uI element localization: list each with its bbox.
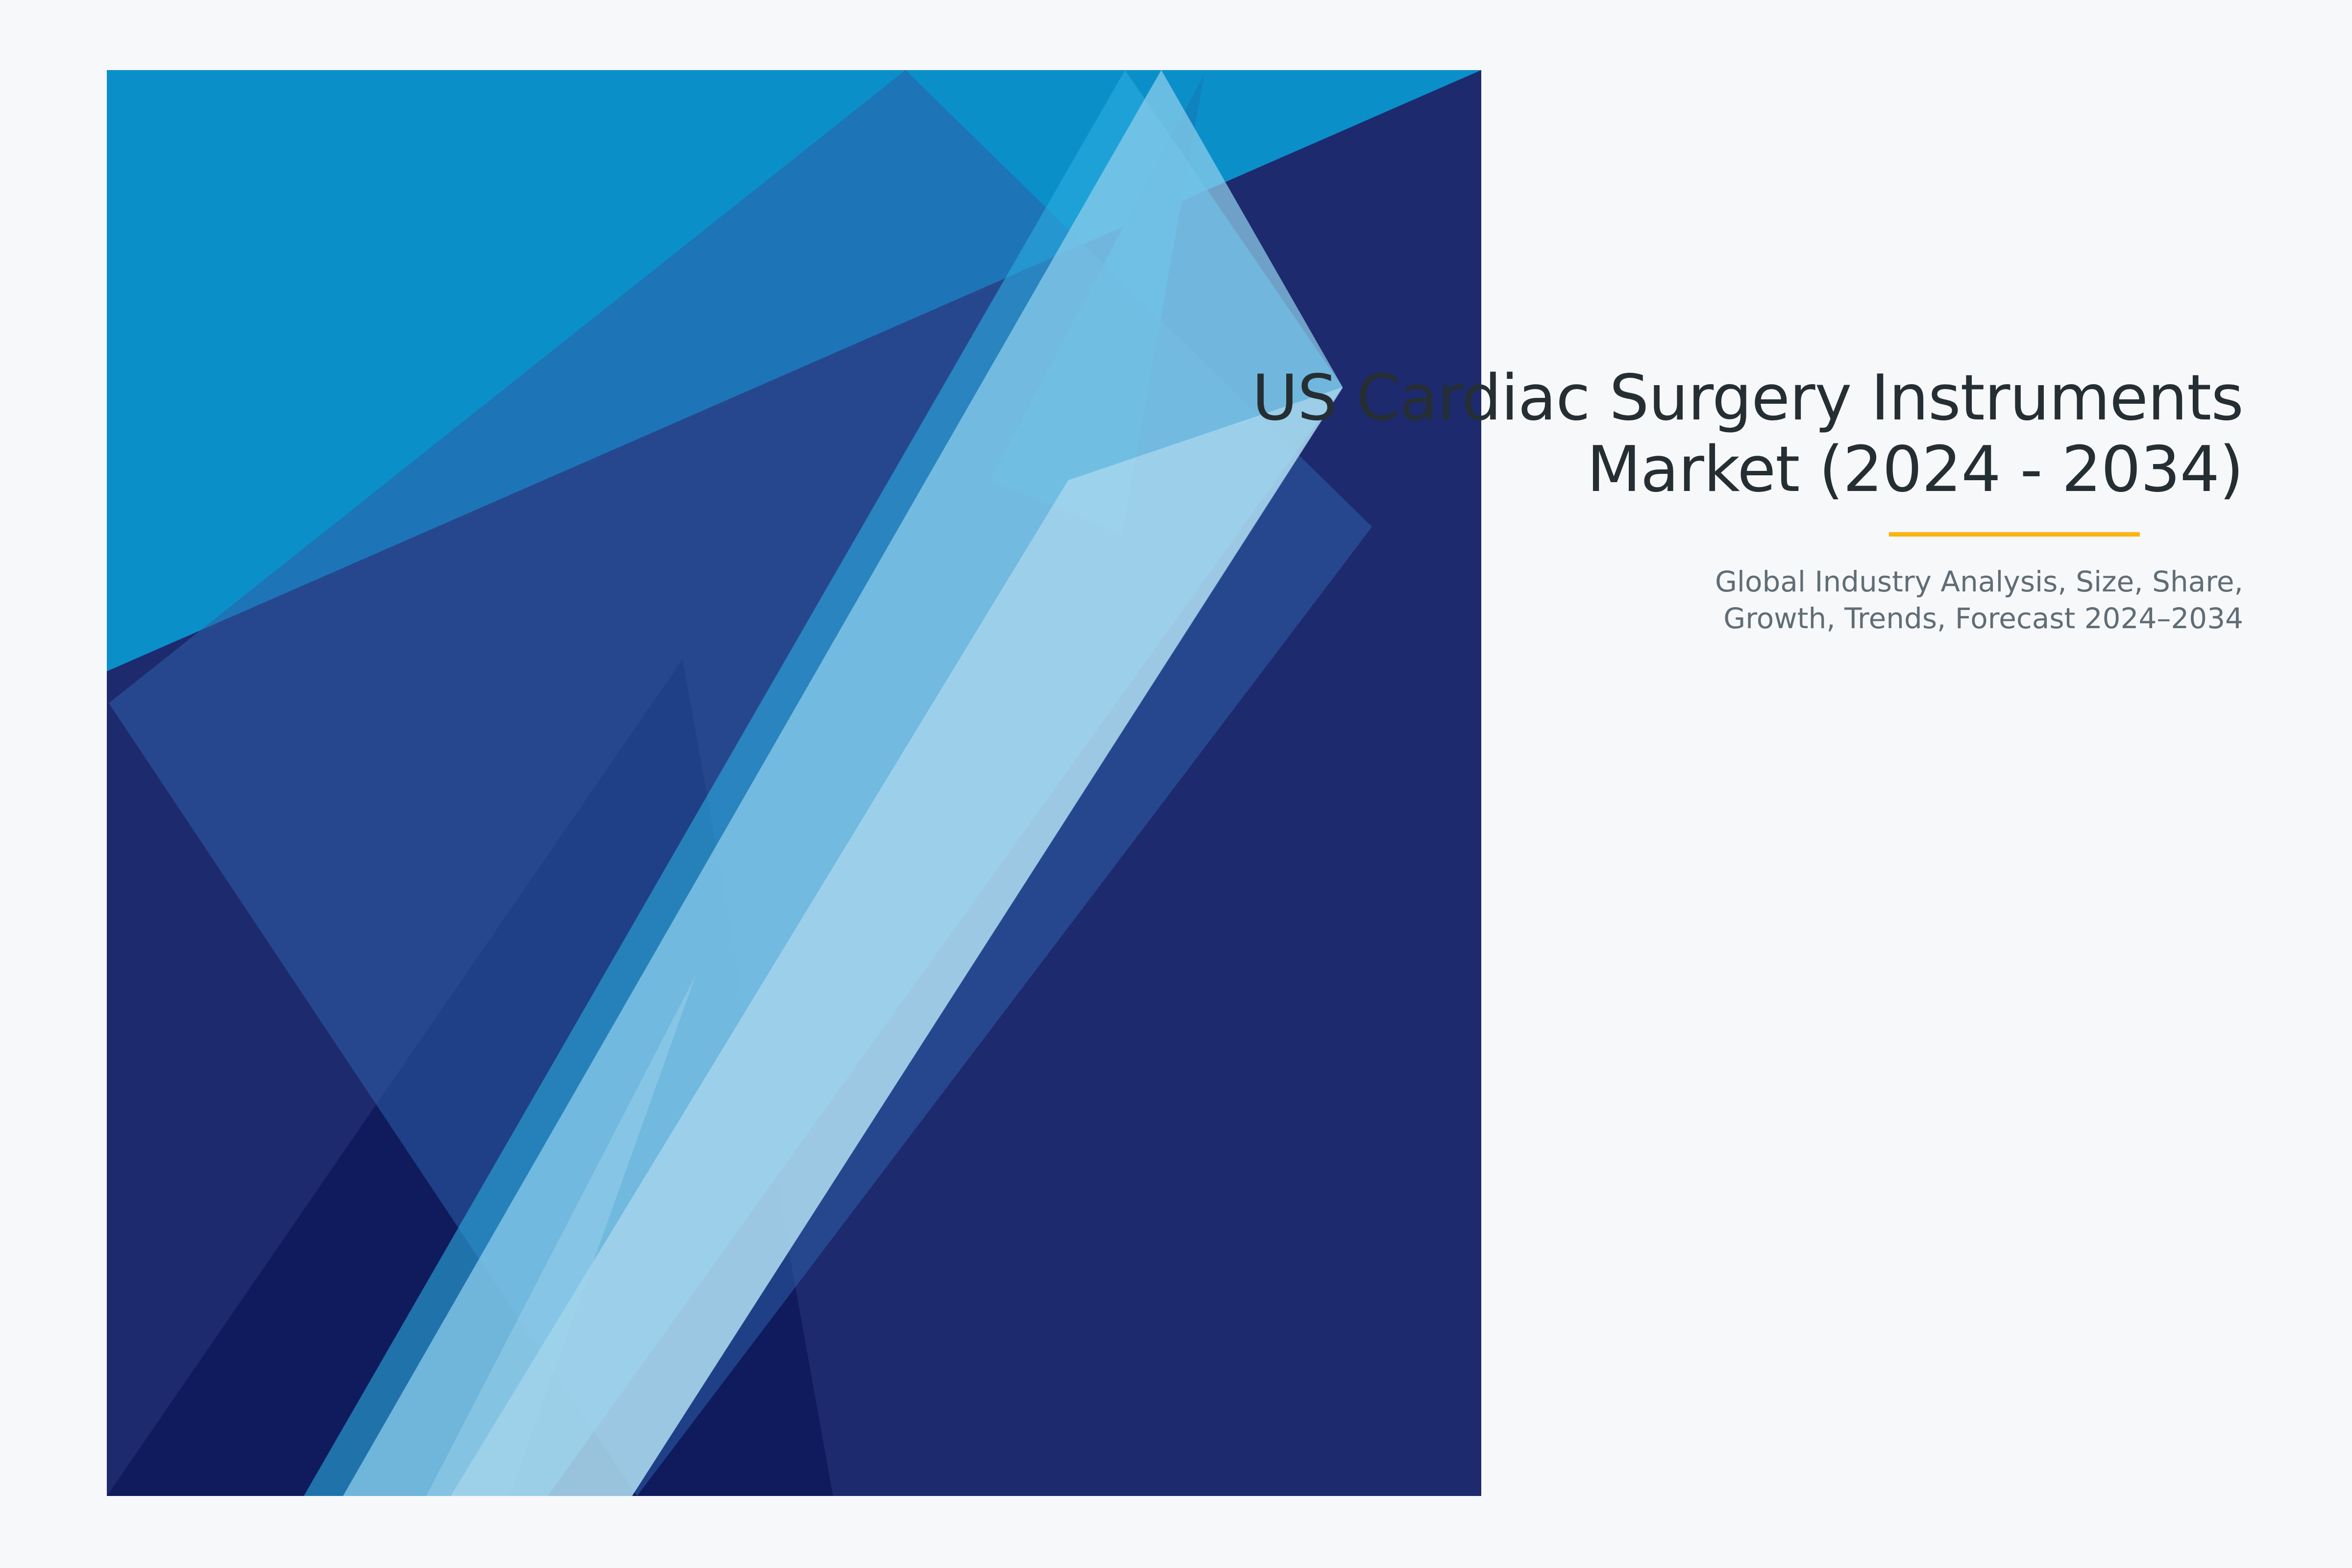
title-accent-underline: [1889, 532, 2140, 537]
shape-slate-blue-kite: [109, 70, 1372, 1496]
report-subtitle: Global Industry Analysis, Size, Share, G…: [1018, 563, 2243, 637]
shape-light-wedge-bottom: [426, 975, 696, 1496]
report-title: US Cardiac Surgery Instruments Market (2…: [1018, 363, 2243, 506]
shape-navy-wedge: [107, 70, 1481, 1496]
cover-text-block: US Cardiac Surgery Instruments Market (2…: [1018, 363, 2243, 637]
shape-cyan-base: [107, 70, 1481, 1496]
report-cover-page: US Cardiac Surgery Instruments Market (2…: [0, 0, 2352, 1568]
abstract-geometric-artwork: [0, 0, 2352, 1568]
shape-sky-blue-band: [304, 70, 1343, 1496]
shape-deep-navy-triangle: [107, 659, 833, 1496]
shape-pale-blue-band: [343, 70, 1343, 1496]
